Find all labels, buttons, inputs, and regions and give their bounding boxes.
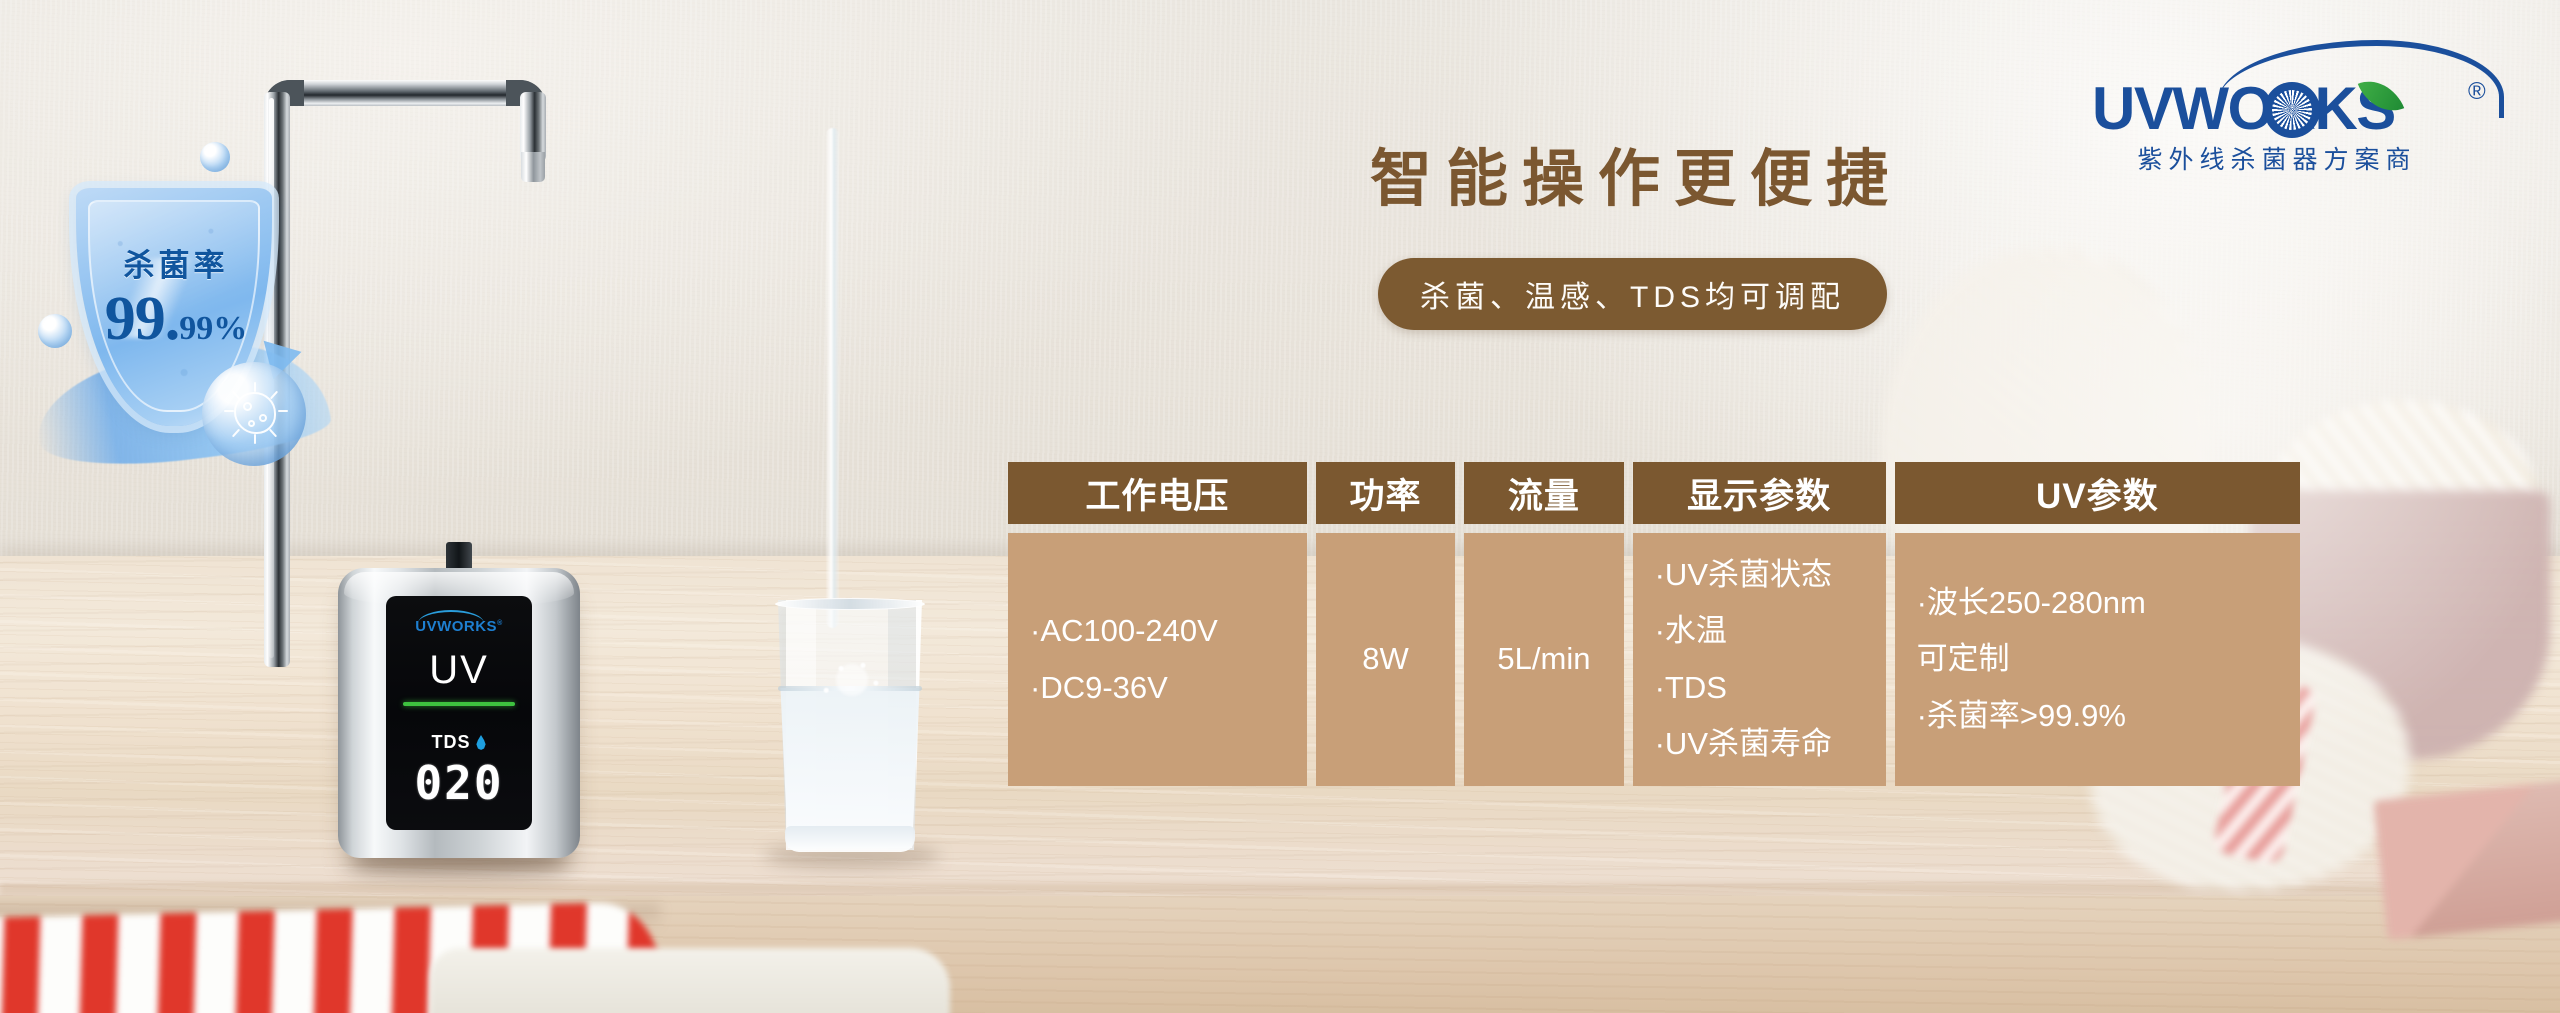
glass-base (785, 826, 915, 852)
device-logo-arc-icon (418, 610, 484, 626)
bubble-icon-top (200, 142, 230, 172)
germ-nucleus-3 (248, 420, 255, 427)
spec-body-uv: ·波长250-280nm 可定制 ·杀菌率>99.9% (1895, 533, 2300, 786)
device-status-indicator-bar (403, 702, 515, 706)
spec-table: 工作电压 ·AC100-240V ·DC9-36V 功率 8W 流量 5L/mi… (1008, 462, 2300, 786)
germ-cilium-2 (270, 391, 278, 400)
glass-water-fill (776, 688, 924, 848)
germ-cilium-6 (232, 429, 240, 438)
water-stream (826, 128, 839, 628)
spec-body-flow: 5L/min (1464, 533, 1623, 786)
spec-line: ·波长250-280nm (1917, 575, 2278, 631)
spec-body-voltage: ·AC100-240V ·DC9-36V (1008, 533, 1307, 786)
germ-nucleus-1 (243, 402, 252, 411)
device-oled-screen[interactable]: UVWORKS® UV TDS 020 (386, 596, 532, 830)
badge-percent: 99.99% (32, 284, 320, 355)
spec-line: ·UV杀菌寿命 (1655, 716, 1864, 772)
spec-line: 8W (1362, 631, 1409, 687)
page-title: 智能操作更便捷 (1370, 128, 1970, 218)
water-glass (770, 600, 930, 858)
badge-percent-major: 99 (105, 285, 165, 353)
spec-header-display: 显示参数 (1633, 462, 1886, 524)
device-mode-label: UV (386, 650, 532, 690)
brand-logo[interactable]: UVWORKS ® 紫外线杀菌器方案商 (2092, 36, 2512, 168)
glass-rim (775, 598, 925, 610)
germ-cilium-4 (269, 429, 277, 438)
feature-pill: 杀菌、温感、TDS均可调配 (1378, 258, 1887, 330)
germ-icon (226, 384, 284, 442)
faucet-horizontal-arm (280, 80, 530, 106)
spec-column-voltage: 工作电压 ·AC100-240V ·DC9-36V (1008, 462, 1307, 786)
device-tds-label: TDS (432, 732, 471, 752)
badge-label: 杀菌率 (32, 240, 320, 285)
spec-line: ·TDS (1655, 660, 1864, 716)
germ-cilium-5 (254, 434, 256, 444)
spec-line: 可定制 (1917, 631, 2278, 687)
spec-body-power: 8W (1316, 533, 1455, 786)
uv-sterilizer-device: UVWORKS® UV TDS 020 (338, 568, 580, 858)
device-logo-registered-mark: ® (497, 620, 503, 627)
banner-stage: UVWORKS® UV TDS 020 杀菌率 99.99% (0, 0, 2560, 1013)
spec-header-voltage: 工作电压 (1008, 462, 1307, 524)
spec-column-flow: 流量 5L/min (1464, 462, 1623, 786)
badge-percent-symbol: % (213, 310, 247, 347)
germ-nucleus-2 (259, 414, 267, 422)
spec-line: ·杀菌率>99.9% (1917, 688, 2278, 744)
spec-header-power: 功率 (1316, 462, 1455, 524)
water-droplet-icon (476, 735, 487, 750)
spec-header-uv: UV参数 (1895, 462, 2300, 524)
logo-registered-mark: ® (2468, 78, 2486, 106)
spec-line: ·AC100-240V (1030, 603, 1285, 659)
badge-percent-minor: 99 (179, 310, 213, 347)
faucet-spout-tip (521, 152, 545, 182)
sterilization-rate-badge: 杀菌率 99.99% (32, 136, 332, 466)
germ-bubble (202, 362, 306, 466)
device-screen-logo: UVWORKS® (386, 618, 532, 635)
spec-line: ·DC9-36V (1030, 660, 1285, 716)
spec-line: ·UV杀菌状态 (1655, 547, 1864, 603)
spec-column-display: 显示参数 ·UV杀菌状态 ·水温 ·TDS ·UV杀菌寿命 (1633, 462, 1886, 786)
spec-body-display: ·UV杀菌状态 ·水温 ·TDS ·UV杀菌寿命 (1633, 533, 1886, 786)
bubble-icon-left (38, 314, 72, 348)
water-splash (806, 656, 898, 708)
spec-column-uv: UV参数 ·波长250-280nm 可定制 ·杀菌率>99.9% (1895, 462, 2300, 786)
germ-cilium-8 (232, 391, 240, 400)
spec-line: ·水温 (1655, 603, 1864, 659)
spec-header-flow: 流量 (1464, 462, 1623, 524)
badge-percent-separator: . (165, 285, 180, 353)
germ-cilium-3 (278, 410, 288, 412)
spec-line: 5L/min (1497, 631, 1590, 687)
white-plate-prop (430, 948, 950, 1013)
logo-tagline: 紫外线杀菌器方案商 (2094, 140, 2460, 176)
germ-cilium-1 (254, 382, 256, 392)
device-tds-value: 020 (386, 760, 532, 806)
wooden-blocks-prop (2373, 780, 2560, 940)
device-tds-label-row: TDS (386, 732, 532, 753)
germ-cilium-7 (224, 410, 234, 412)
logo-sunburst-o-icon (2264, 82, 2320, 138)
spec-column-power: 功率 8W (1316, 462, 1455, 786)
logo-sunburst-center (2284, 99, 2300, 121)
